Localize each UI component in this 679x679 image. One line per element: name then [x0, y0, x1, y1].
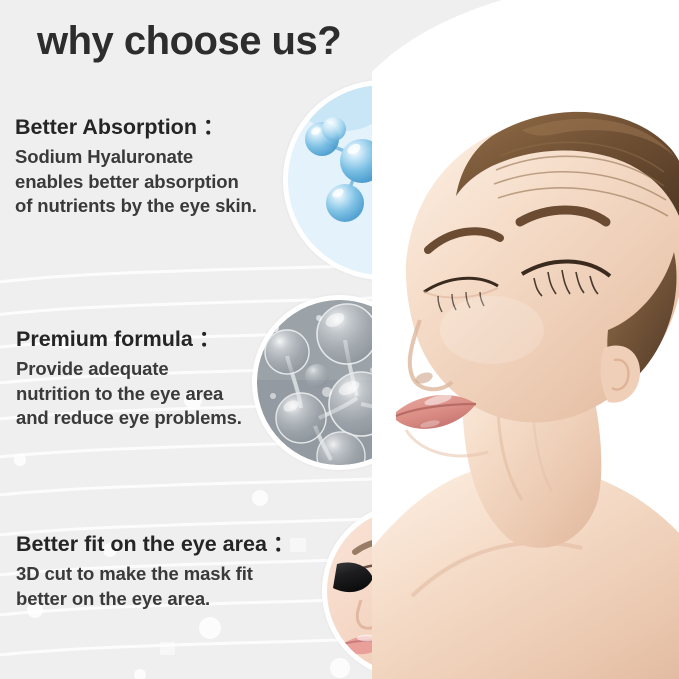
feature-heading: Premium formula ： [16, 322, 242, 353]
model-photo [372, 0, 679, 679]
feature-body-line: of nutrients by the eye skin. [15, 194, 257, 219]
feature-body-line: 3D cut to make the mask fit [16, 562, 294, 587]
feature-heading: Better Absorption ： [15, 110, 257, 141]
feature-heading: Better fit on the eye area ： [16, 527, 294, 558]
feature-better-absorption: Better Absorption ： Sodium Hyaluronate e… [15, 110, 257, 219]
page-title: why choose us? [37, 19, 341, 63]
feature-body: 3D cut to make the mask fit better on th… [16, 562, 294, 611]
feature-body-line: and reduce eye problems. [16, 406, 242, 431]
feature-better-fit: Better fit on the eye area ： 3D cut to m… [16, 527, 294, 611]
feature-premium-formula: Premium formula ： Provide adequate nutri… [16, 322, 242, 431]
feature-body-line: Provide adequate [16, 357, 242, 382]
feature-body: Sodium Hyaluronate enables better absorp… [15, 145, 257, 219]
feature-body-line: enables better absorption [15, 170, 257, 195]
feature-body: Provide adequate nutrition to the eye ar… [16, 357, 242, 431]
feature-body-line: better on the eye area. [16, 587, 294, 612]
feature-body-line: nutrition to the eye area [16, 382, 242, 407]
feature-body-line: Sodium Hyaluronate [15, 145, 257, 170]
infographic-canvas: why choose us? [0, 0, 679, 679]
